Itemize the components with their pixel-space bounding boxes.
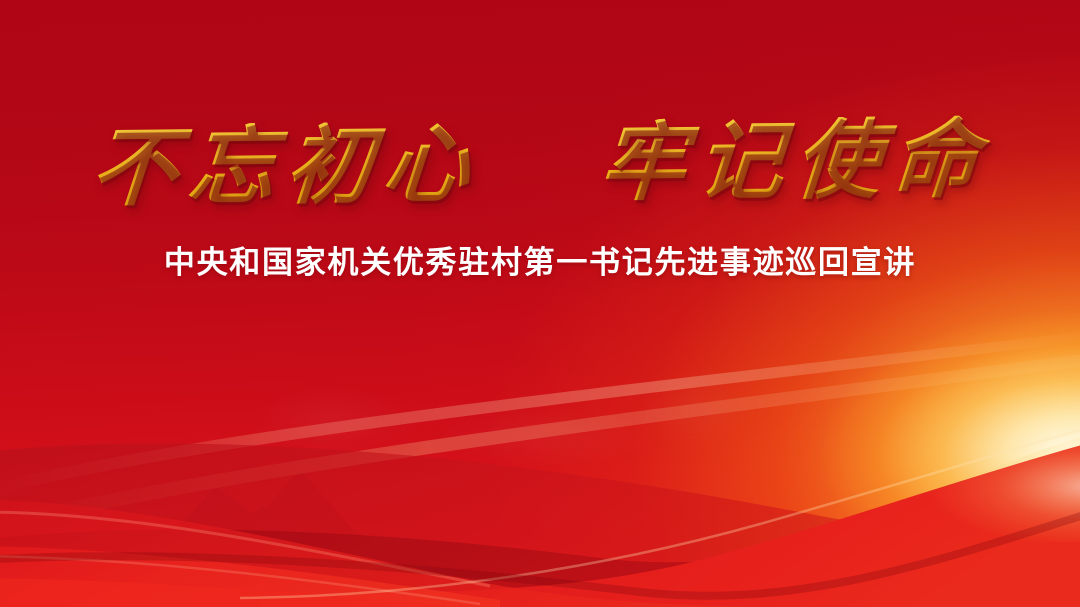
headline-segment-1: 不忘初心 [88, 121, 484, 215]
headline-gap [511, 193, 565, 194]
waves-svg [0, 0, 1080, 607]
page-subtitle: 中央和国家机关优秀驻村第一书记先进事迹巡回宣讲 [0, 237, 1080, 282]
silk-ribbon-waves [0, 0, 1080, 607]
poster-text-block: 不忘初心 牢记使命 中央和国家机关优秀驻村第一书记先进事迹巡回宣讲 [0, 120, 1080, 282]
page-title: 不忘初心 牢记使命 [0, 114, 1080, 215]
headline-segment-2: 牢记使命 [596, 115, 992, 209]
poster-canvas: 不忘初心 牢记使命 中央和国家机关优秀驻村第一书记先进事迹巡回宣讲 [0, 0, 1080, 607]
